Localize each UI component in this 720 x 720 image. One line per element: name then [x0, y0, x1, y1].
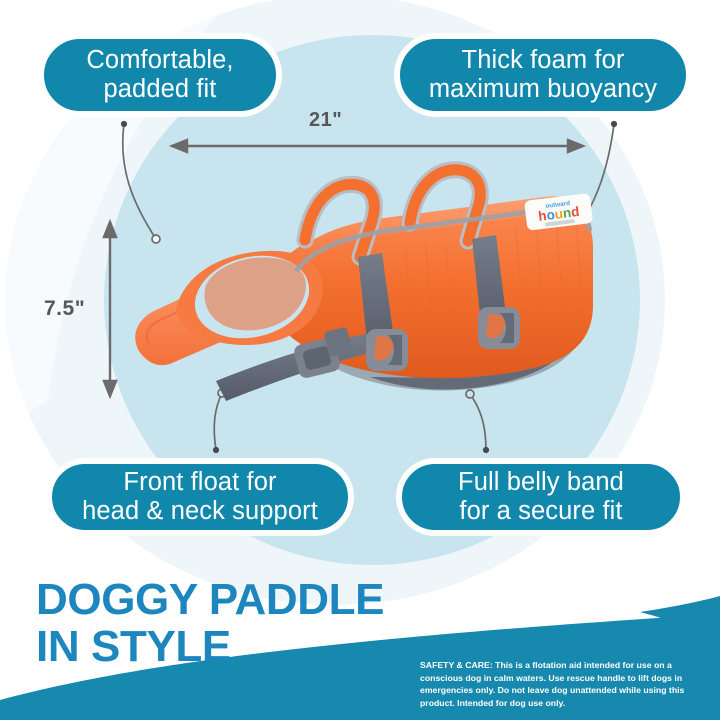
callout-line-1: Comfortable,	[80, 46, 239, 75]
callout-line-2: padded fit	[80, 75, 239, 104]
callout-front-float-support[interactable]: Front float for head & neck support	[46, 458, 354, 536]
headline-line-2: IN STYLE	[36, 625, 384, 669]
callout-comfortable-padded-fit[interactable]: Comfortable, padded fit	[38, 33, 282, 117]
headline-line-1: DOGGY PADDLE	[36, 575, 384, 624]
dimension-width-label: 21"	[309, 109, 342, 132]
infographic-canvas: outward hound Comfortable, padded fit Th…	[0, 0, 720, 720]
callout-line-1: Full belly band	[452, 468, 630, 497]
callout-line-2: head & neck support	[76, 497, 324, 526]
buckle-rear-side	[478, 307, 520, 349]
callout-line-1: Front float for	[76, 468, 324, 497]
safety-and-care-text: SAFETY & CARE: This is a flotation aid i…	[420, 659, 695, 709]
callout-full-belly-band[interactable]: Full belly band for a secure fit	[396, 458, 686, 536]
callout-line-1: Thick foam for	[423, 46, 663, 75]
page-headline: DOGGY PADDLE IN STYLE	[36, 578, 384, 669]
product-image-dog-life-jacket: outward hound	[120, 145, 600, 420]
callout-thick-foam-buoyancy[interactable]: Thick foam for maximum buoyancy	[394, 33, 692, 117]
buckle-front-side	[366, 329, 408, 371]
dimension-height-label: 7.5"	[44, 297, 85, 321]
life-jacket-illustration: outward hound	[120, 145, 600, 420]
callout-line-2: maximum buoyancy	[423, 75, 663, 104]
callout-line-2: for a secure fit	[452, 497, 630, 526]
